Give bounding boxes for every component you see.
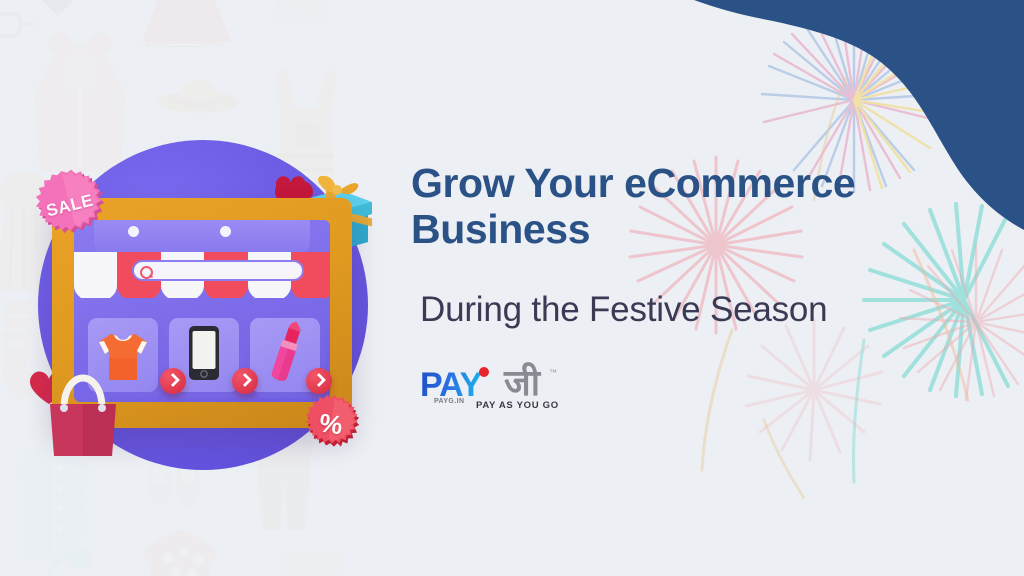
shopping-bag-icon	[40, 368, 126, 460]
logo-ji-text: जी	[504, 365, 540, 401]
next-arrow-button-2[interactable]	[232, 368, 258, 394]
headline-line-1: Grow Your eCommerce	[411, 160, 971, 206]
logo-red-dot-icon	[479, 367, 489, 377]
headline-line-2: Business	[411, 206, 971, 252]
promo-banner: SALE % Grow Your eCommerce Business Duri…	[0, 0, 1024, 576]
logo-pay-text: PAY	[420, 368, 481, 402]
header-dot-right	[220, 226, 231, 237]
logo-tagline-text: PAY AS YOU GO	[476, 400, 559, 411]
search-icon	[140, 266, 153, 279]
payg-logo[interactable]: PAY जी ™ PAYG.IN PAY AS YOU GO	[420, 368, 590, 424]
store-header-bar	[94, 220, 310, 256]
next-arrow-button-1[interactable]	[160, 368, 186, 394]
logo-trademark: ™	[549, 368, 557, 377]
percent-badge: %	[296, 389, 366, 459]
page-subtitle: During the Festive Season	[420, 290, 980, 329]
header-dot-left	[128, 226, 139, 237]
percent-badge-label: %	[296, 389, 366, 459]
logo-domain-text: PAYG.IN	[434, 398, 464, 405]
store-search-bar[interactable]	[132, 260, 304, 281]
page-title: Grow Your eCommerce Business	[411, 160, 971, 253]
